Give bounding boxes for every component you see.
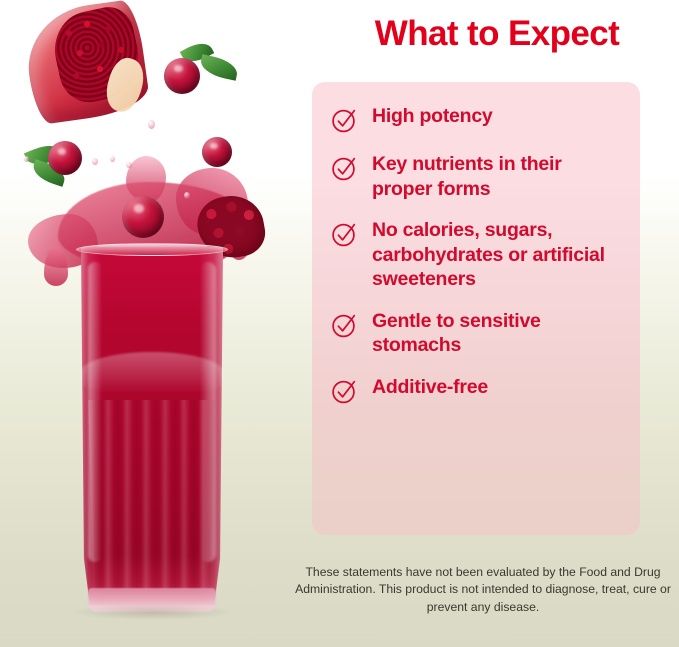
list-item-label: Additive-free: [372, 375, 488, 400]
cranberry: [48, 141, 82, 175]
list-item-label: Key nutrients in their proper forms: [372, 152, 624, 201]
glass-highlight: [200, 262, 216, 562]
list-item: Additive-free: [330, 375, 624, 406]
check-circle-icon: [330, 310, 360, 340]
glass-rim: [76, 243, 228, 256]
list-item-label: Gentle to sensitive stomachs: [372, 309, 624, 358]
list-item: No calories, sugars, carbohydrates or ar…: [330, 218, 624, 292]
check-circle-icon: [330, 219, 360, 249]
list-item-label: No calories, sugars, carbohydrates or ar…: [372, 218, 624, 292]
check-circle-icon: [330, 376, 360, 406]
juice-droplet: [126, 162, 132, 168]
list-item: High potency: [330, 104, 624, 135]
fda-disclaimer: These statements have not been evaluated…: [288, 564, 678, 616]
cranberry: [202, 137, 232, 167]
check-circle-icon: [330, 153, 360, 183]
list-item: Key nutrients in their proper forms: [330, 152, 624, 201]
juice-droplet: [92, 158, 98, 165]
benefits-card: High potency Key nutrients in their prop…: [312, 82, 640, 535]
juice-droplet: [110, 156, 115, 162]
page-title: What to Expect: [322, 14, 672, 54]
list-item-label: High potency: [372, 104, 493, 129]
glass-shadow: [72, 604, 234, 620]
cranberry: [122, 196, 164, 238]
cranberry: [164, 58, 200, 94]
check-circle-icon: [330, 105, 360, 135]
info-panel: What to Expect High potency: [310, 0, 679, 647]
juice-droplet: [148, 120, 155, 129]
juice-droplet: [184, 192, 190, 199]
product-photo: [0, 0, 310, 647]
list-item: Gentle to sensitive stomachs: [330, 309, 624, 358]
glass-highlight: [88, 262, 102, 562]
product-infographic: What to Expect High potency: [0, 0, 679, 647]
leaf-icon: [198, 54, 239, 80]
juice-droplet: [24, 156, 29, 162]
